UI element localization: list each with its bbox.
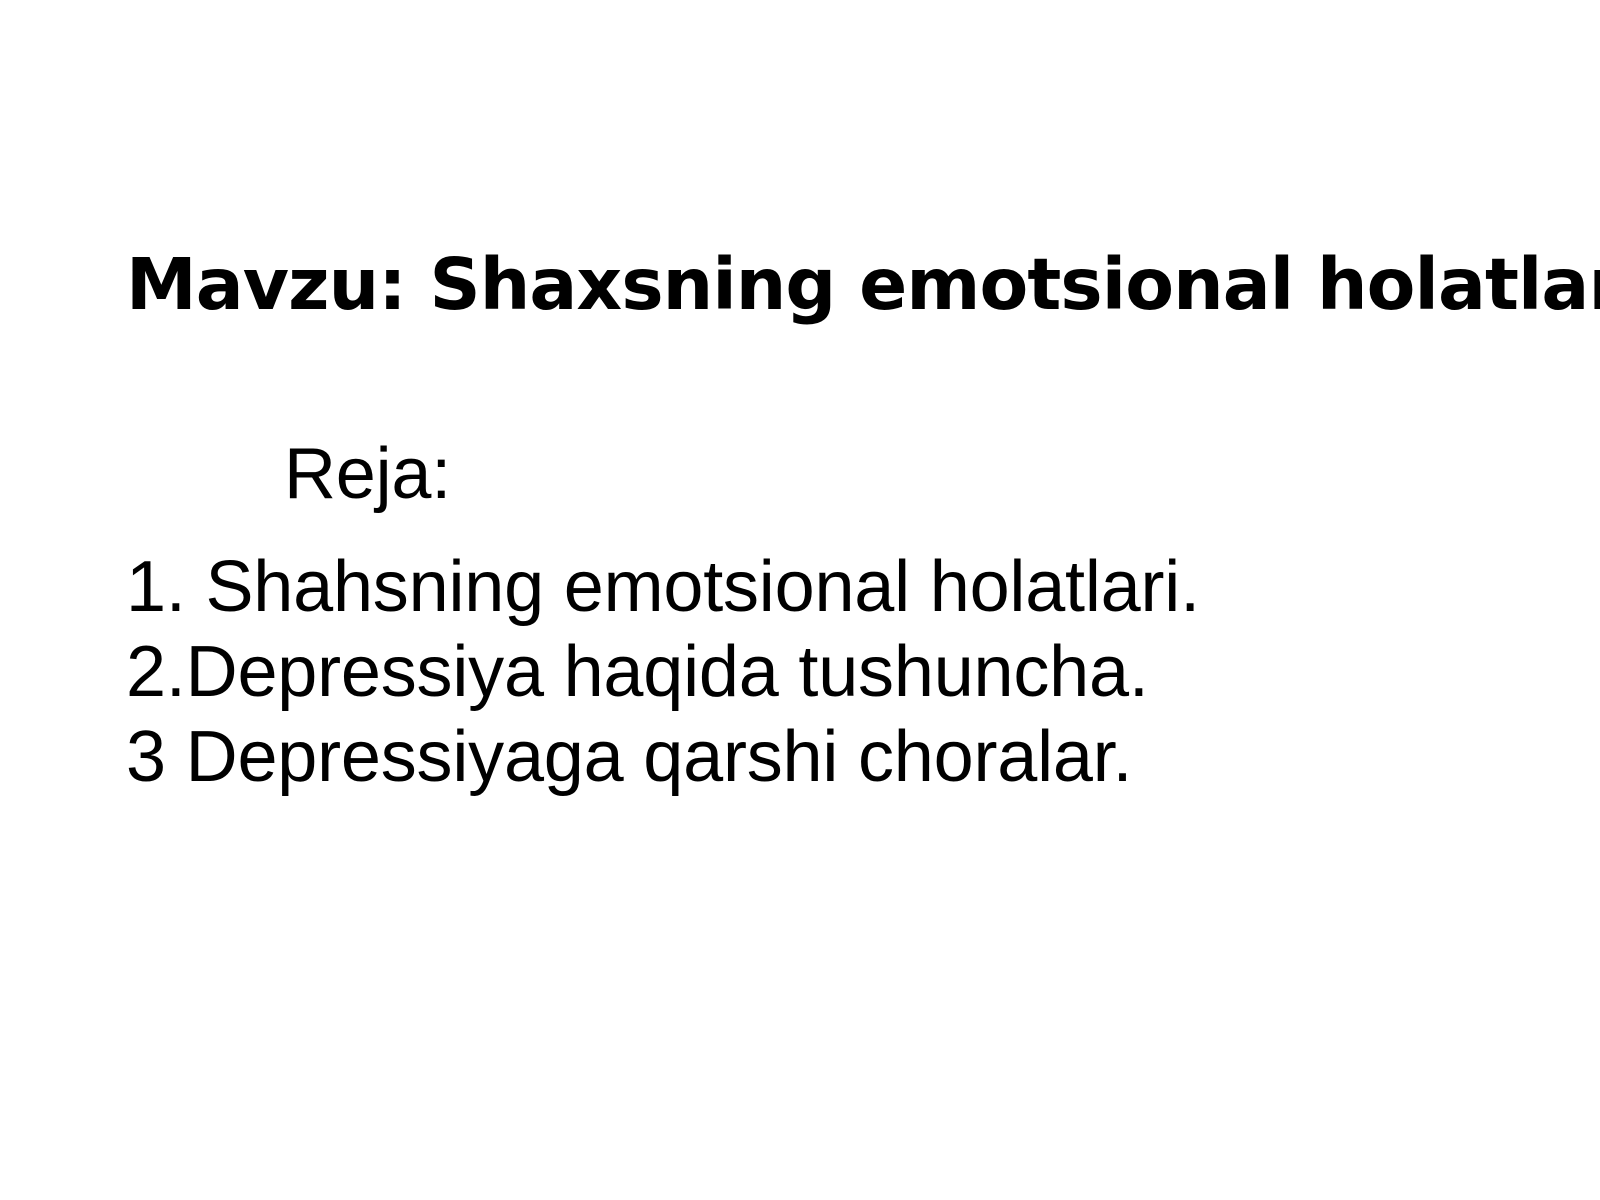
body-list-item-2: 2.Depressiya haqida tushuncha. <box>126 630 1526 715</box>
slide-title: Mavzu: Shaxsning emotsional holatlari. <box>126 244 1486 326</box>
slide-body-text: Reja: 1. Shahsning emotsional holatlari.… <box>126 432 1526 800</box>
slide-canvas: Mavzu: Shaxsning emotsional holatlari. R… <box>0 0 1600 1200</box>
body-heading-reja: Reja: <box>126 432 1526 517</box>
body-list-item-1: 1. Shahsning emotsional holatlari. <box>126 545 1526 630</box>
body-list-item-3: 3 Depressiyaga qarshi choralar. <box>126 715 1526 800</box>
